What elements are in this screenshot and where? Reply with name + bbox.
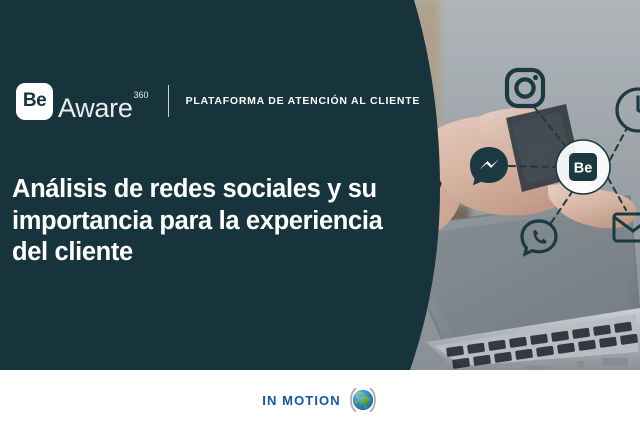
aware-superscript: 360 <box>134 91 149 100</box>
in-motion-lockup[interactable]: IN MOTION <box>262 385 378 415</box>
aware-wordmark: Aware 360 <box>58 88 149 115</box>
tagline: PLATAFORMA DE ATENCIÓN AL CLIENTE <box>186 96 421 107</box>
aware-text: Aware <box>58 95 133 122</box>
footer-brand: IN MOTION <box>0 370 640 430</box>
logo-divider <box>168 85 169 117</box>
globe-icon <box>348 385 378 415</box>
be-badge-label: Be <box>23 91 46 110</box>
banner: Be Be Aware 360 PLATA <box>0 0 640 430</box>
page-title: Análisis de redes sociales y su importan… <box>12 174 392 269</box>
logo-lockup[interactable]: Be Aware 360 PLATAFORMA DE ATENCIÓN AL C… <box>16 79 420 123</box>
be-badge-icon: Be <box>16 83 53 120</box>
in-motion-label: IN MOTION <box>262 394 341 407</box>
